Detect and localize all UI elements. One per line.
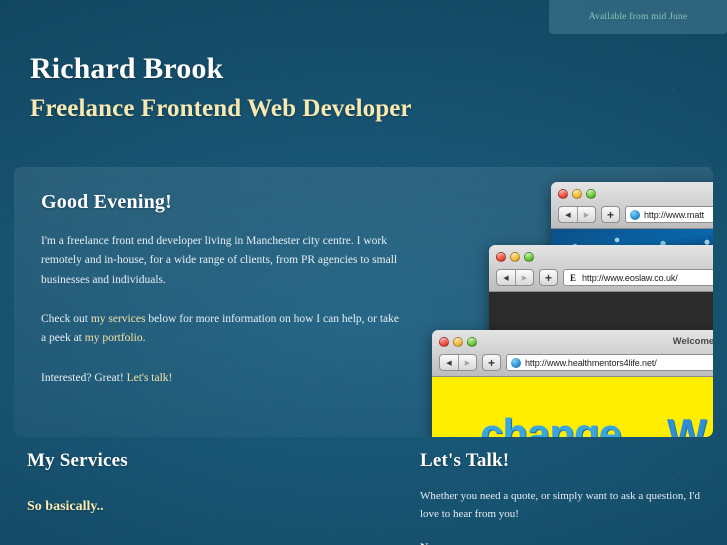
page-wordmark-word-1: change bbox=[480, 410, 621, 437]
page-title: Richard Brook bbox=[30, 52, 690, 87]
address-bar-url-2: http://www.eoslaw.co.uk/ bbox=[582, 273, 678, 283]
address-bar-2[interactable]: E http://www.eoslaw.co.uk/ bbox=[563, 269, 713, 286]
availability-badge-text: Available from mid June bbox=[589, 12, 688, 22]
new-tab-button-3[interactable]: + bbox=[482, 354, 501, 371]
browser-content-3: changeW bbox=[432, 377, 713, 437]
hero-paragraph-links: Check out my services below for more inf… bbox=[41, 310, 403, 349]
hero-paragraph-intro: I'm a freelance front end developer livi… bbox=[41, 232, 403, 290]
globe-icon bbox=[511, 358, 521, 368]
name-field-label: Name bbox=[420, 542, 710, 545]
forward-icon[interactable]: ▶ bbox=[458, 355, 476, 370]
traffic-lights-1[interactable] bbox=[558, 189, 596, 199]
new-tab-button-1[interactable]: + bbox=[601, 206, 620, 223]
hero-panel: Good Evening! I'm a freelance front end … bbox=[14, 167, 713, 437]
maximize-icon[interactable] bbox=[467, 337, 477, 347]
browser-toolbar-3: ◀ ▶ + http://www.healthmentors4life.net/ bbox=[439, 354, 713, 371]
close-icon[interactable] bbox=[558, 189, 568, 199]
nav-button-group-3[interactable]: ◀ ▶ bbox=[439, 354, 477, 371]
hero-greeting: Good Evening! bbox=[41, 191, 403, 214]
link-lets-talk[interactable]: Let's talk! bbox=[127, 372, 173, 384]
close-icon[interactable] bbox=[439, 337, 449, 347]
hero-text-interested: Interested? Great! bbox=[41, 372, 127, 384]
browser-toolbar-1: ◀ ▶ + http://www.matt bbox=[558, 206, 713, 223]
browser-titlebar-2 bbox=[496, 249, 713, 264]
browser-window-title-3: Welcome t bbox=[673, 336, 713, 347]
browser-chrome-2: ◀ ▶ + E http://www.eoslaw.co.uk/ bbox=[489, 245, 713, 292]
nav-button-group-1[interactable]: ◀ ▶ bbox=[558, 206, 596, 223]
address-bar-url-3: http://www.healthmentors4life.net/ bbox=[525, 358, 657, 368]
services-section: My Services So basically.. bbox=[27, 450, 387, 515]
minimize-icon[interactable] bbox=[453, 337, 463, 347]
browser-titlebar-3: Welcome t bbox=[439, 334, 713, 349]
traffic-lights-2[interactable] bbox=[496, 252, 534, 262]
browser-titlebar-1 bbox=[558, 186, 713, 201]
forward-icon[interactable]: ▶ bbox=[577, 207, 595, 222]
services-heading: My Services bbox=[27, 450, 387, 472]
hero-text-check-out: Check out bbox=[41, 313, 91, 325]
back-icon[interactable]: ◀ bbox=[497, 270, 515, 285]
new-tab-button-2[interactable]: + bbox=[539, 269, 558, 286]
close-icon[interactable] bbox=[496, 252, 506, 262]
page-wordmark: changeW bbox=[480, 410, 706, 437]
browser-chrome-3: Welcome t ◀ ▶ + http://www.healthmentors… bbox=[432, 330, 713, 377]
page-wordmark-word-2: W bbox=[667, 410, 706, 437]
maximize-icon[interactable] bbox=[524, 252, 534, 262]
contact-heading: Let's Talk! bbox=[420, 450, 710, 472]
address-bar-1[interactable]: http://www.matt bbox=[625, 206, 713, 223]
link-my-portfolio[interactable]: my portfolio bbox=[85, 332, 143, 344]
back-icon[interactable]: ◀ bbox=[440, 355, 458, 370]
eoslaw-favicon-icon: E bbox=[568, 273, 578, 283]
browser-window-3[interactable]: Welcome t ◀ ▶ + http://www.healthmentors… bbox=[432, 330, 713, 437]
link-my-services[interactable]: my services bbox=[91, 313, 146, 325]
nav-button-group-2[interactable]: ◀ ▶ bbox=[496, 269, 534, 286]
contact-intro-text: Whether you need a quote, or simply want… bbox=[420, 488, 710, 524]
site-header: Richard Brook Freelance Frontend Web Dev… bbox=[30, 52, 690, 124]
forward-icon[interactable]: ▶ bbox=[515, 270, 533, 285]
address-bar-url-1: http://www.matt bbox=[644, 210, 704, 220]
hero-copy: Good Evening! I'm a freelance front end … bbox=[41, 191, 403, 388]
maximize-icon[interactable] bbox=[586, 189, 596, 199]
availability-badge: Available from mid June bbox=[549, 0, 727, 34]
back-icon[interactable]: ◀ bbox=[559, 207, 577, 222]
hero-text-after: . bbox=[143, 332, 146, 344]
page-tagline: Freelance Frontend Web Developer bbox=[30, 94, 690, 124]
minimize-icon[interactable] bbox=[572, 189, 582, 199]
globe-icon bbox=[630, 210, 640, 220]
minimize-icon[interactable] bbox=[510, 252, 520, 262]
hero-paragraph-cta: Interested? Great! Let's talk! bbox=[41, 369, 403, 388]
traffic-lights-3[interactable] bbox=[439, 337, 477, 347]
contact-section: Let's Talk! Whether you need a quote, or… bbox=[420, 450, 710, 545]
browser-toolbar-2: ◀ ▶ + E http://www.eoslaw.co.uk/ bbox=[496, 269, 713, 286]
services-subheading: So basically.. bbox=[27, 499, 387, 515]
browser-chrome-1: ◀ ▶ + http://www.matt bbox=[551, 182, 713, 229]
address-bar-3[interactable]: http://www.healthmentors4life.net/ bbox=[506, 354, 713, 371]
